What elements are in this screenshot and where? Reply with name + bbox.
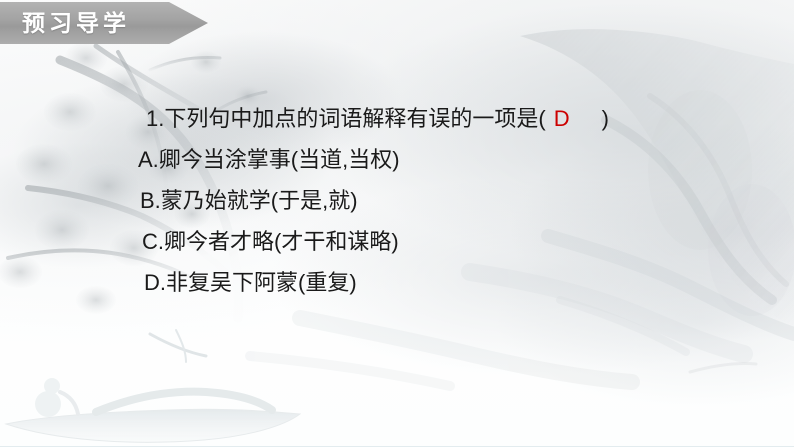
ink-drift-group bbox=[250, 318, 632, 386]
option-a[interactable]: A.卿今当涂掌事(当道,当权) bbox=[0, 139, 794, 180]
option-c[interactable]: C.卿今者才略(才干和谋略) bbox=[0, 221, 794, 262]
fisherman-boat bbox=[6, 330, 300, 442]
option-a-text: 卿今当涂掌事(当道,当权) bbox=[159, 147, 400, 172]
question-number: 1. bbox=[146, 106, 164, 131]
question-block: 1.下列句中加点的词语解释有误的一项是(D) A.卿今当涂掌事(当道,当权) B… bbox=[0, 98, 794, 303]
option-b-text: 蒙乃始就学(于是,就) bbox=[161, 188, 358, 213]
option-d-label: D. bbox=[144, 270, 166, 295]
answer-value: D bbox=[546, 106, 576, 131]
section-banner: 预习导学 bbox=[0, 2, 208, 44]
question-close-paren: ) bbox=[602, 106, 609, 131]
question-open-paren: ( bbox=[538, 106, 545, 131]
question-stem: 下列句中加点的词语解释有误的一项是 bbox=[164, 106, 538, 131]
option-b[interactable]: B.蒙乃始就学(于是,就) bbox=[0, 180, 794, 221]
option-c-text: 卿今者才略(才干和谋略) bbox=[164, 229, 399, 254]
option-d[interactable]: D.非复吴下阿蒙(重复) bbox=[0, 262, 794, 303]
banner-title: 预习导学 bbox=[22, 12, 130, 35]
option-d-text: 非复吴下阿蒙(重复) bbox=[166, 270, 357, 295]
option-c-label: C. bbox=[142, 229, 164, 254]
option-a-label: A. bbox=[138, 147, 159, 172]
slide-canvas: 预习导学 1.下列句中加点的词语解释有误的一项是(D) A.卿今当涂掌事(当道,… bbox=[0, 0, 794, 447]
option-b-label: B. bbox=[140, 188, 161, 213]
question-stem-line: 1.下列句中加点的词语解释有误的一项是(D) bbox=[0, 98, 794, 139]
